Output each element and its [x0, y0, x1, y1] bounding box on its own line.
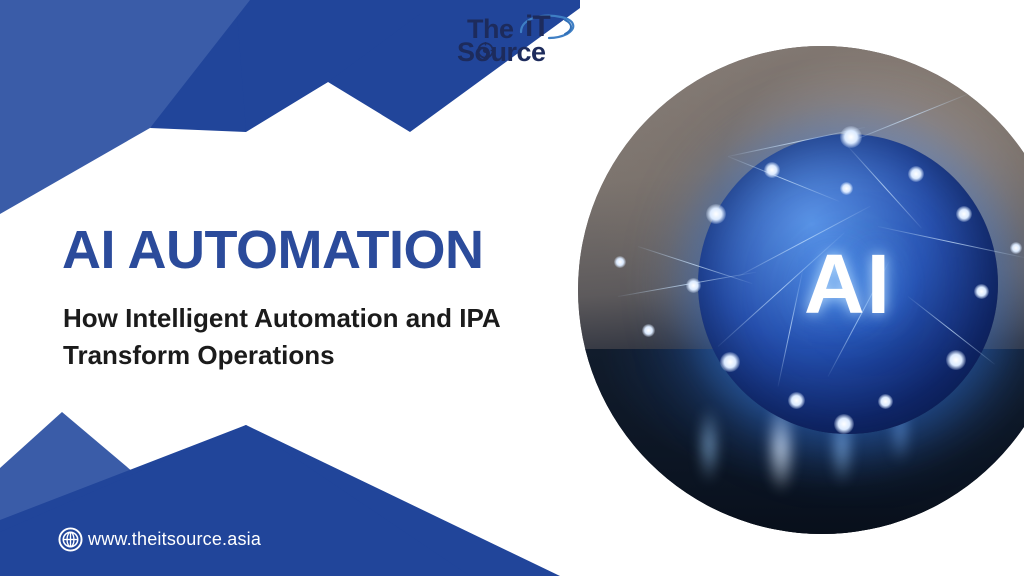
- hero-circle-image: AI: [578, 46, 1024, 534]
- poster-canvas: AI The iT Source AI AUTOMATION: [0, 0, 1024, 576]
- network-node: [614, 256, 626, 268]
- top-dark-chevron-b: [236, 0, 420, 130]
- ai-sphere-label: AI: [698, 134, 998, 434]
- page-subtitle: How Intelligent Automation and IPA Trans…: [63, 300, 563, 374]
- logo-globe-icon: [477, 42, 494, 59]
- footer-website-url[interactable]: www.theitsource.asia: [88, 529, 261, 550]
- logo-text-source: Source: [457, 37, 546, 68]
- bottom-light-triangle: [0, 412, 256, 576]
- brand-logo[interactable]: The iT Source: [455, 8, 585, 76]
- network-node: [1010, 242, 1022, 254]
- top-light-chevron: [0, 0, 250, 214]
- network-node: [642, 324, 655, 337]
- bottom-dark-mountain-b: [0, 425, 470, 576]
- page-title: AI AUTOMATION: [62, 222, 483, 279]
- globe-icon: [58, 527, 83, 552]
- bottom-dark-mountain: [0, 425, 560, 576]
